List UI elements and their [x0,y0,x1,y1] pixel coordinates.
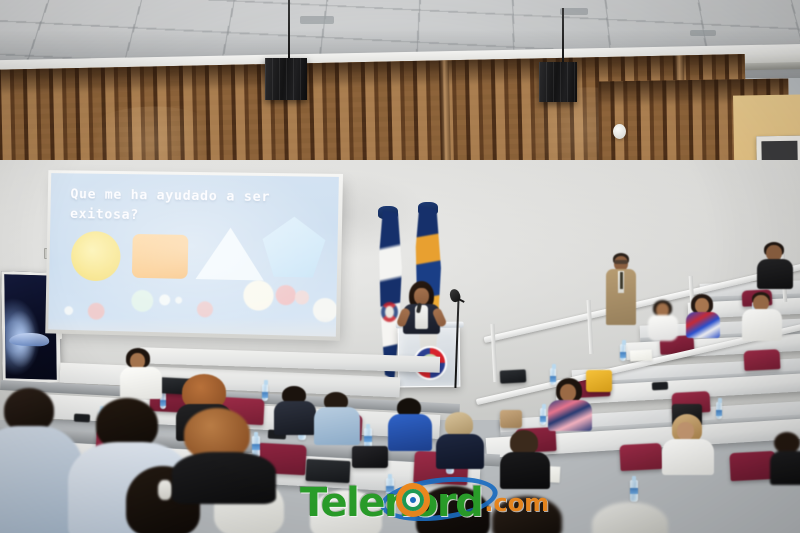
ceiling-speaker [539,62,577,102]
slide-decoration-bubble [243,280,274,311]
water-bottle [630,480,638,502]
audience-member [686,294,720,338]
slide-shape-rectangle [132,234,188,279]
speaker-grille [265,58,307,100]
foreground-attendee [0,388,72,533]
audience-member [548,378,592,430]
presenter-face [414,288,429,305]
foreground-attendee [486,496,578,533]
ceiling-vent [300,16,334,24]
audience-member [758,242,792,288]
audience-member [648,300,678,340]
slide-decoration-bubble [197,301,213,317]
person-hair [592,502,668,533]
ceiling-speaker [265,58,307,100]
laptop [500,369,527,383]
audience-member [314,392,360,444]
slide-title: Que me ha ayudado a ser exitosa? [70,184,310,228]
person-shirt [662,439,714,475]
slide-title-line-2: exitosa? [70,204,310,228]
audience-member [742,292,782,340]
person-head [560,384,576,401]
projection-screen: Que me ha ayudado a ser exitosa? [48,173,339,337]
slide-shape-rectangle-label [132,256,188,257]
audience-member [388,398,432,450]
person-head [695,298,709,313]
slide-shape-pentagon-label [262,246,325,247]
necktie [620,272,623,289]
mobile-phone [652,382,668,391]
person-hair [492,496,562,533]
presenter [392,281,450,333]
foreground-attendee [300,490,396,533]
person-torso [770,451,800,485]
audience-member [770,432,800,484]
audience-member [662,414,714,474]
person-shirt [314,407,360,445]
ceiling-vent [560,8,588,15]
slide-shape-triangle-label [196,261,264,262]
person-shirt [648,315,678,341]
person-torso [757,259,793,289]
slide-decoration-bubble [159,294,170,305]
laptop [305,459,350,483]
auditorium-chair[interactable] [744,349,781,371]
slide-decoration-bubble [175,297,182,304]
slide-shape-circle [71,231,121,282]
person-head [677,422,694,440]
water-bottle [716,402,722,419]
person-shirt [742,309,782,341]
person-dress [548,400,592,431]
water-bottle [620,344,626,361]
slide-shape-triangle [196,227,265,280]
person-torso [436,434,484,469]
person-hair [445,412,473,436]
slide-decoration-bubble [275,285,296,306]
slide-decoration-bubble [64,306,73,315]
slide-decoration-bubble [295,290,309,304]
eyeglasses [614,260,628,264]
water-bottle [262,384,268,401]
white-cap [310,490,382,533]
standing-attendee [606,253,636,325]
foreground-attendee [176,408,272,500]
audience-member [500,430,550,488]
foreground-attendee [584,502,680,533]
speaker-wire [562,8,564,66]
person-shirt [172,452,276,504]
auditorium-photo: Que me ha ayudado a ser exitosa? [0,0,800,533]
auditorium-chair[interactable] [619,443,662,471]
speaker-wire [288,0,290,62]
person-clothing [686,312,720,338]
audience-member [436,412,484,468]
person-torso [500,452,550,489]
paper-document [630,349,653,361]
person-hair [416,486,490,533]
speaker-grille [539,62,577,102]
wall-light-fixture [613,124,626,139]
audience-member [120,348,162,398]
water-bottle [540,408,546,425]
slide-decoration-bubble [131,290,153,312]
person-shirt [388,414,432,451]
presentation-slide: Que me ha ayudado a ser exitosa? [48,173,339,337]
handbag [352,446,388,468]
monitor-image-object [9,332,49,346]
person-shirt [120,367,162,399]
handbag [500,410,522,428]
person-torso [274,401,316,435]
person-hair [510,430,538,454]
hair-clip [158,480,172,500]
slide-shape-circle-label [71,256,120,257]
audience-member [274,386,316,434]
